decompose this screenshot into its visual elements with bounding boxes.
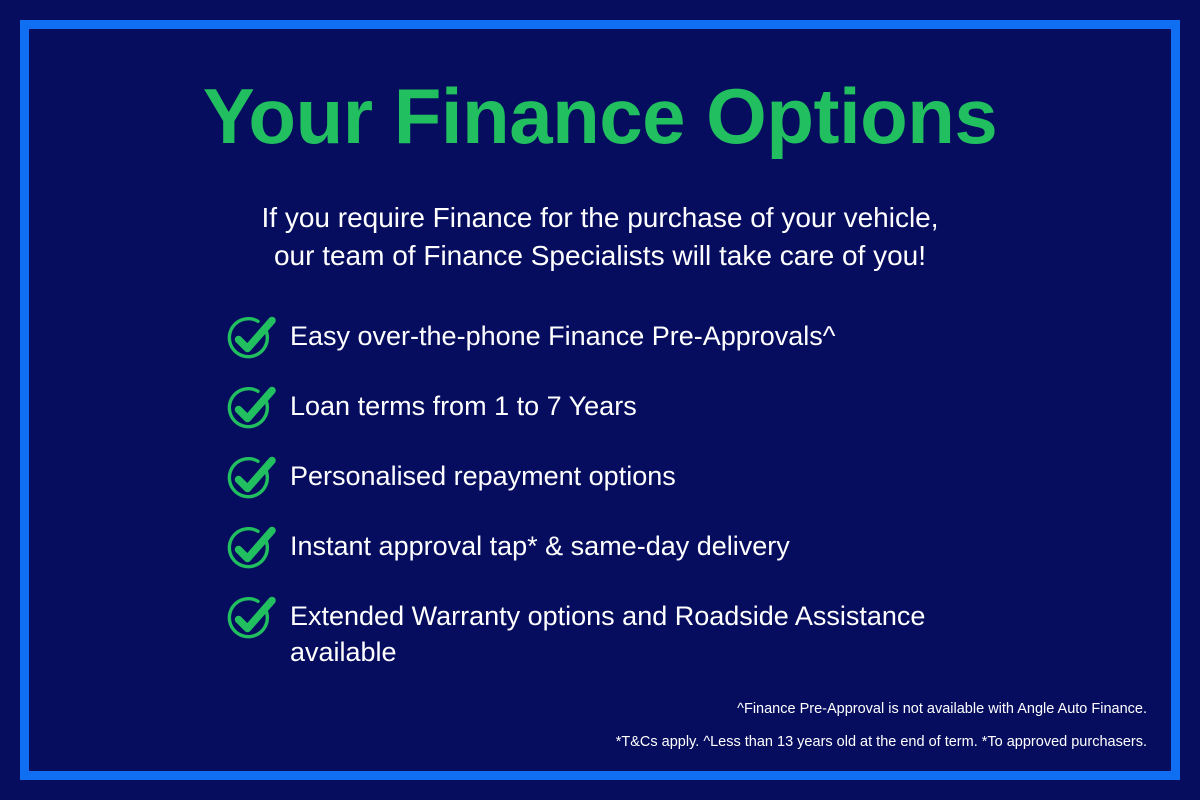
- check-circle-icon: [224, 453, 278, 503]
- footnotes: ^Finance Pre-Approval is not available w…: [616, 702, 1147, 749]
- list-item: Easy over-the-phone Finance Pre-Approval…: [224, 313, 1131, 363]
- banner-frame: Your Finance Options If you require Fina…: [20, 20, 1180, 780]
- list-item: Instant approval tap* & same-day deliver…: [224, 523, 1131, 573]
- feature-text: Easy over-the-phone Finance Pre-Approval…: [290, 313, 835, 355]
- page-title: Your Finance Options: [29, 77, 1171, 155]
- list-item: Personalised repayment options: [224, 453, 1131, 503]
- list-item: Loan terms from 1 to 7 Years: [224, 383, 1131, 433]
- feature-text: Personalised repayment options: [290, 453, 676, 495]
- footnote-finance-preapproval: ^Finance Pre-Approval is not available w…: [616, 702, 1147, 717]
- footnote-terms: *T&Cs apply. ^Less than 13 years old at …: [616, 735, 1147, 750]
- subtitle-line-1: If you require Finance for the purchase …: [69, 199, 1131, 237]
- list-item: Extended Warranty options and Roadside A…: [224, 593, 1131, 670]
- finance-options-banner: Your Finance Options If you require Fina…: [0, 0, 1200, 800]
- banner-subtitle: If you require Finance for the purchase …: [29, 199, 1171, 275]
- feature-list: Easy over-the-phone Finance Pre-Approval…: [224, 313, 1131, 670]
- banner-content: Your Finance Options If you require Fina…: [29, 29, 1171, 771]
- feature-text: Instant approval tap* & same-day deliver…: [290, 523, 790, 565]
- check-circle-icon: [224, 523, 278, 573]
- feature-text: Extended Warranty options and Roadside A…: [290, 593, 930, 670]
- feature-text: Loan terms from 1 to 7 Years: [290, 383, 637, 425]
- subtitle-line-2: our team of Finance Specialists will tak…: [69, 237, 1131, 275]
- check-circle-icon: [224, 383, 278, 433]
- check-circle-icon: [224, 593, 278, 643]
- check-circle-icon: [224, 313, 278, 363]
